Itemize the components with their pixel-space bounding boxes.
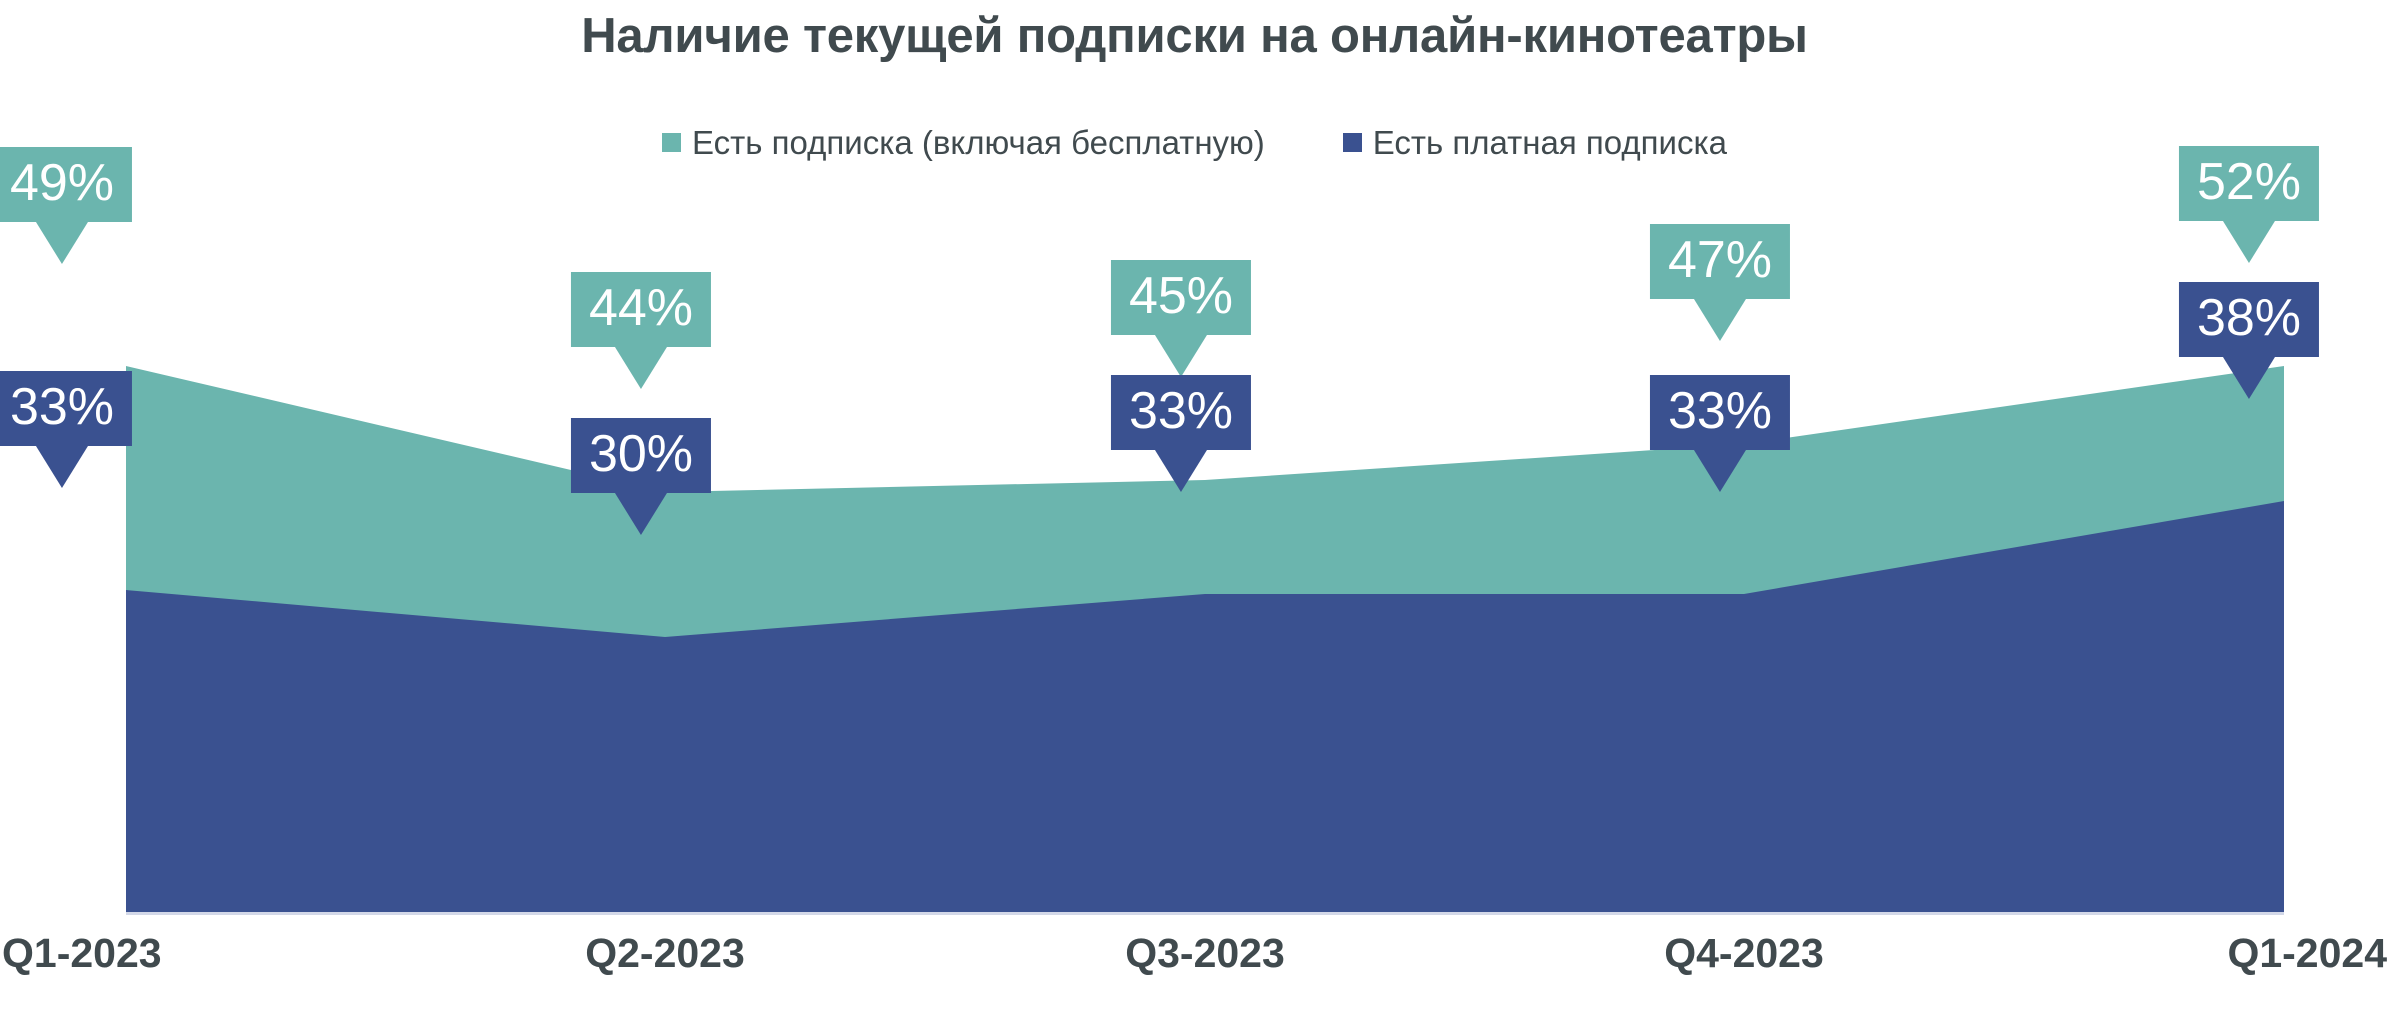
x-axis-line	[126, 912, 2284, 915]
x-tick-label-q1-2024: Q1-2024	[2227, 930, 2387, 977]
data-label-navy-q3-2023: 33%	[1111, 375, 1251, 492]
data-label-teal-q2-2023-text: 44%	[571, 272, 711, 347]
data-label-teal-q2-2023: 44%	[571, 272, 711, 389]
area-chart-svg	[0, 0, 2389, 1034]
data-label-teal-q1-2024-text: 52%	[2179, 146, 2319, 221]
data-label-navy-q3-2023-text: 33%	[1111, 375, 1251, 450]
data-label-teal-q1-2023-text: 49%	[0, 147, 132, 222]
callout-tail	[36, 446, 88, 488]
data-label-navy-q1-2023-text: 33%	[0, 371, 132, 446]
data-label-teal-q3-2023: 45%	[1111, 260, 1251, 377]
data-label-teal-q4-2023: 47%	[1650, 224, 1790, 341]
data-label-navy-q2-2023-text: 30%	[571, 418, 711, 493]
callout-tail	[615, 493, 667, 535]
callout-tail	[2223, 221, 2275, 263]
callout-tail	[2223, 357, 2275, 399]
chart-root: Наличие текущей подписки на онлайн-кинот…	[0, 0, 2389, 1034]
data-label-teal-q1-2024: 52%	[2179, 146, 2319, 263]
callout-tail	[1694, 450, 1746, 492]
callout-tail	[1694, 299, 1746, 341]
callout-tail	[36, 222, 88, 264]
data-label-navy-q4-2023-text: 33%	[1650, 375, 1790, 450]
plot-area: 49% 44% 45% 47% 52% 33% 30%	[0, 0, 2389, 1034]
data-label-navy-q4-2023: 33%	[1650, 375, 1790, 492]
callout-tail	[615, 347, 667, 389]
data-label-navy-q1-2024: 38%	[2179, 282, 2319, 399]
x-tick-label-q1-2023: Q1-2023	[2, 930, 162, 977]
data-label-navy-q1-2024-text: 38%	[2179, 282, 2319, 357]
x-axis-labels: Q1-2023 Q2-2023 Q3-2023 Q4-2023 Q1-2024	[0, 930, 2389, 1000]
x-tick-label-q4-2023: Q4-2023	[1664, 930, 1824, 977]
data-label-teal-q4-2023-text: 47%	[1650, 224, 1790, 299]
data-label-teal-q1-2023: 49%	[0, 147, 132, 264]
x-tick-label-q2-2023: Q2-2023	[585, 930, 745, 977]
callout-tail	[1155, 450, 1207, 492]
data-label-teal-q3-2023-text: 45%	[1111, 260, 1251, 335]
x-tick-label-q3-2023: Q3-2023	[1125, 930, 1285, 977]
data-label-navy-q2-2023: 30%	[571, 418, 711, 535]
data-label-navy-q1-2023: 33%	[0, 371, 132, 488]
callout-tail	[1155, 335, 1207, 377]
